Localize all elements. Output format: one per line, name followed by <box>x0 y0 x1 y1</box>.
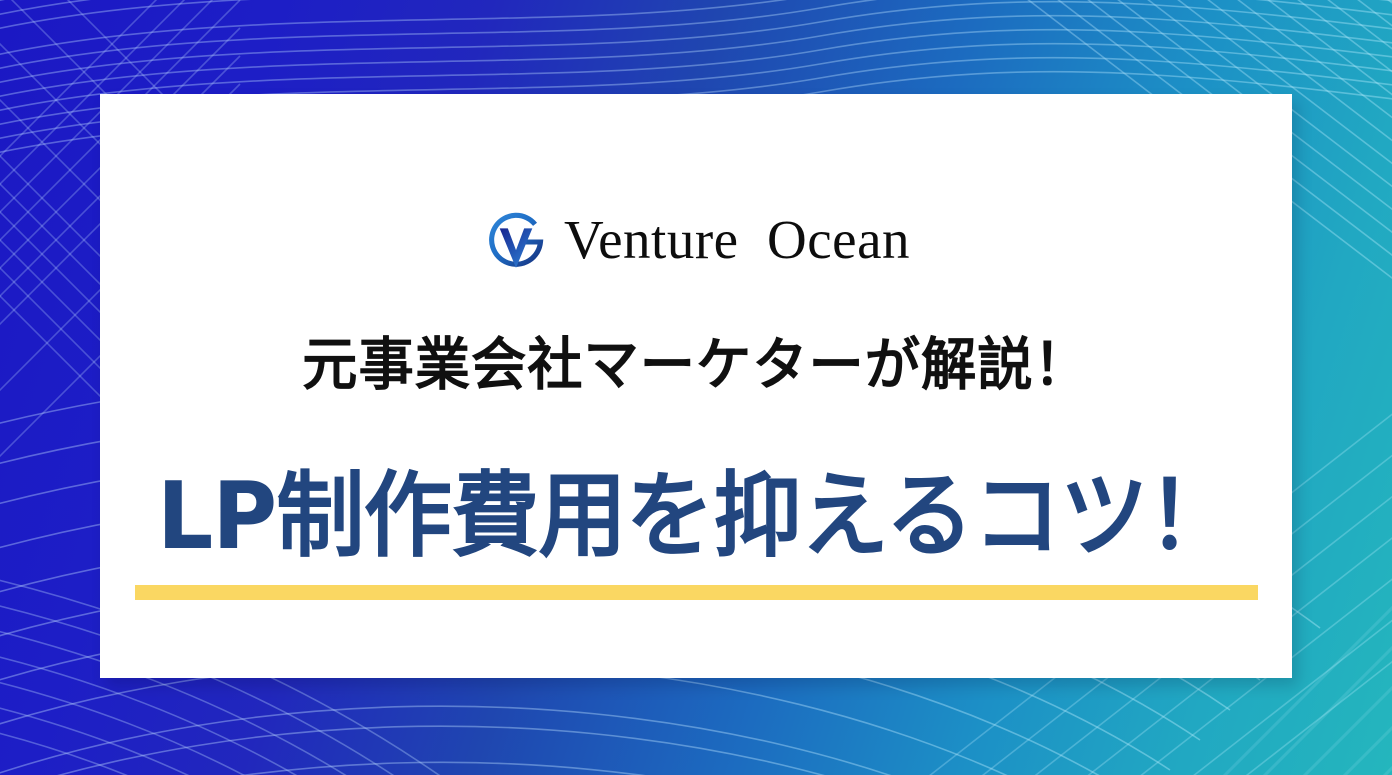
logo: Venture Ocean <box>100 198 1292 284</box>
headline-underline <box>135 585 1258 600</box>
content-card: Venture Ocean 元事業会社マーケターが解説！ LP制作費用を抑えるコ… <box>100 94 1292 678</box>
subtitle: 元事業会社マーケターが解説！ <box>118 334 1274 397</box>
headline-block: LP制作費用を抑えるコツ！ <box>100 466 1292 600</box>
page-title: LP制作費用を抑えるコツ！ <box>130 466 1262 566</box>
venture-ocean-v-circle-logo-icon <box>482 208 550 276</box>
logo-wordmark: Venture Ocean <box>564 212 910 271</box>
banner-root: Venture Ocean 元事業会社マーケターが解説！ LP制作費用を抑えるコ… <box>0 0 1392 775</box>
